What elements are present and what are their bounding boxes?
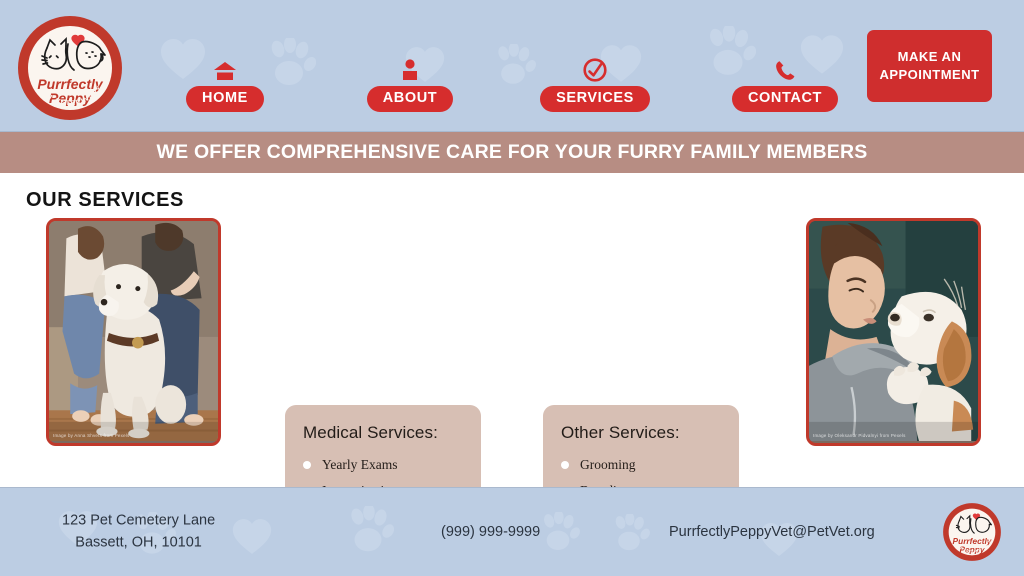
home-icon: [160, 56, 290, 82]
address-line-2: Bassett, OH, 10101: [62, 532, 215, 554]
nav-item-contact[interactable]: CONTACT: [715, 56, 855, 112]
page-title: OUR SERVICES: [26, 189, 184, 212]
service-label: Grooming: [580, 457, 636, 473]
phone-icon: [715, 56, 855, 82]
card-title: Medical Services:: [303, 423, 465, 443]
page-root: Purrfectly Peppy PET VETERINARY HOSPITAL: [0, 0, 1024, 576]
check-circle-icon: [525, 56, 665, 82]
photo-caption: Image by Oleksandr Pidvalnyi from Pexels: [813, 433, 906, 438]
photo-family-with-dog: Image by Anna Shvets from Pexels: [46, 218, 221, 446]
nav-label-about[interactable]: ABOUT: [367, 86, 454, 112]
address-line-1: 123 Pet Cemetery Lane: [62, 510, 215, 532]
photo-caption: Image by Anna Shvets from Pexels: [53, 433, 129, 438]
person-icon: [345, 56, 475, 82]
footer-address: 123 Pet Cemetery Lane Bassett, OH, 10101: [62, 510, 215, 555]
tagline-text: WE OFFER COMPREHENSIVE CARE FOR YOUR FUR…: [157, 141, 868, 164]
site-header: Purrfectly Peppy PET VETERINARY HOSPITAL: [0, 0, 1024, 131]
tagline-banner: WE OFFER COMPREHENSIVE CARE FOR YOUR FUR…: [0, 131, 1024, 173]
site-footer: 123 Pet Cemetery Lane Bassett, OH, 10101…: [0, 487, 1024, 576]
nav-label-contact[interactable]: CONTACT: [732, 86, 838, 112]
bullet-icon: [303, 461, 311, 469]
service-label: Yearly Exams: [322, 457, 398, 473]
card-title: Other Services:: [561, 423, 723, 443]
main-content: OUR SERVICES: [0, 173, 1024, 487]
nav-item-services[interactable]: SERVICES: [525, 56, 665, 112]
nav-label-home[interactable]: HOME: [186, 86, 264, 112]
bullet-icon: [561, 461, 569, 469]
footer-email[interactable]: PurrfectlyPeppyVet@PetVet.org: [669, 524, 875, 540]
nav-item-home[interactable]: HOME: [160, 56, 290, 112]
list-item: Yearly Exams: [303, 457, 465, 473]
make-appointment-button[interactable]: MAKE AN APPOINTMENT: [867, 30, 992, 102]
list-item: Grooming: [561, 457, 723, 473]
main-navigation: HOME ABOUT SERVICES: [140, 0, 840, 131]
nav-item-about[interactable]: ABOUT: [345, 56, 475, 112]
brand-logo[interactable]: Purrfectly Peppy PET VETERINARY HOSPITAL: [16, 14, 124, 122]
footer-brand-logo[interactable]: Purrfectly Peppy PET VETERINARY HOSPITAL: [942, 502, 1002, 562]
footer-phone[interactable]: (999) 999-9999: [441, 524, 540, 540]
photo-woman-with-puppy: Image by Oleksandr Pidvalnyi from Pexels: [806, 218, 981, 446]
nav-label-services[interactable]: SERVICES: [540, 86, 650, 112]
